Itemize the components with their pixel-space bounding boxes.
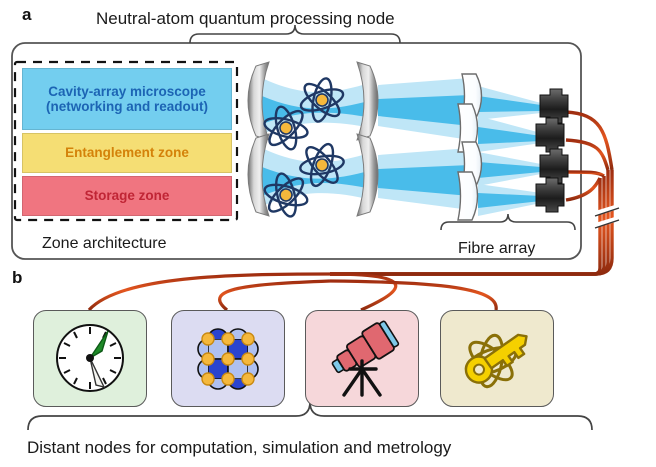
zone-band-line1: Cavity-array microscope [48,84,206,99]
beam-to-fibre-group [478,86,541,216]
zone-band-line1: Storage zone [85,188,170,203]
clock-icon [34,311,146,406]
zone-band-storage-zone: Storage zone [22,176,232,216]
lens-icon [458,172,478,220]
quantum-key-icon [441,311,553,406]
telescope-icon [306,311,418,406]
fibre-drops [89,274,496,310]
zone-architecture-label: Zone architecture [42,235,167,253]
node-telescope[interactable] [305,310,419,407]
fibre-connector-group [536,89,568,212]
panel-b-letter: b [12,268,22,288]
qubit-node-dots [202,333,254,385]
panel-b-caption: Distant nodes for computation, simulatio… [27,438,451,458]
panel-a-title: Neutral-atom quantum processing node [96,9,395,29]
zone-band-line2: (networking and readout) [46,99,208,114]
node-key[interactable] [440,310,554,407]
zone-band-entanglement-zone: Entanglement zone [22,133,232,173]
node-clock[interactable] [33,310,147,407]
panel-a-letter: a [22,5,31,25]
zone-band-line1: Entanglement zone [65,145,189,160]
beam-fan-upper [378,78,470,140]
lattice-qubit-grid-icon [172,311,284,406]
fibre-array-label: Fibre array [458,240,535,258]
zone-band-cavity-array-microscope: Cavity-array microscope (networking and … [22,68,232,130]
node-lattice[interactable] [171,310,285,407]
beam-fan-lower [378,148,470,210]
